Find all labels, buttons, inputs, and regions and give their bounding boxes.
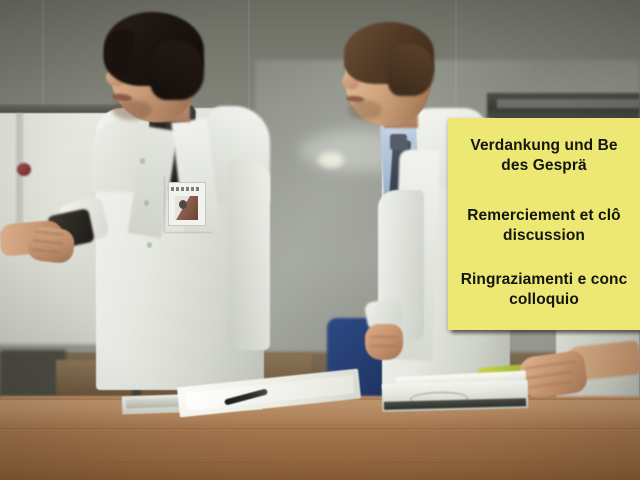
table-sheen [0, 400, 640, 426]
table-wood-grain [0, 428, 640, 429]
coat-button [147, 242, 152, 248]
glass-specular-highlight [318, 152, 344, 168]
hand-knuckle [370, 345, 398, 347]
left-man-hair-front [104, 30, 134, 74]
right-man-hand [365, 324, 403, 360]
table-wood-grain [0, 444, 640, 445]
subtitle-block-german: Verdankung und Be des Gesprä [448, 136, 640, 176]
wall-display-screen [497, 99, 640, 108]
id-badge-text [171, 187, 201, 191]
right-man-tie-knot [390, 134, 407, 150]
subtitle-line-french-2: discussion [448, 226, 640, 246]
left-man-hair-side [150, 40, 204, 100]
subtitle-line-italian-2: colloquio [448, 290, 640, 310]
subtitle-line-german-1: Verdankung und Be [448, 136, 640, 156]
subtitle-line-italian-1: Ringraziamenti e conc [448, 270, 640, 290]
hand-knuckle [370, 336, 398, 338]
right-man-hair-side [388, 44, 434, 96]
table-wood-grain [0, 462, 640, 463]
video-frame: Verdankung und Be des Gesprä Remerciemen… [0, 0, 640, 480]
left-man-right-arm [228, 160, 270, 350]
id-badge-photo [175, 196, 198, 220]
subtitle-line-french-1: Remerciement et clô [448, 206, 640, 226]
left-man-jaw-shadow [112, 100, 152, 120]
subtitle-block-italian: Ringraziamenti e conc colloquio [448, 270, 640, 310]
subtitle-block-french: Remerciement et clô discussion [448, 206, 640, 246]
whiteboard-magnet [17, 163, 31, 176]
right-man-jaw-shadow [348, 100, 382, 120]
subtitle-card: Verdankung und Be des Gesprä Remerciemen… [448, 118, 640, 330]
id-badge-portrait [179, 200, 187, 209]
coat-button [140, 158, 145, 164]
coat-button [144, 200, 149, 206]
subtitle-line-german-2: des Gesprä [448, 156, 640, 176]
